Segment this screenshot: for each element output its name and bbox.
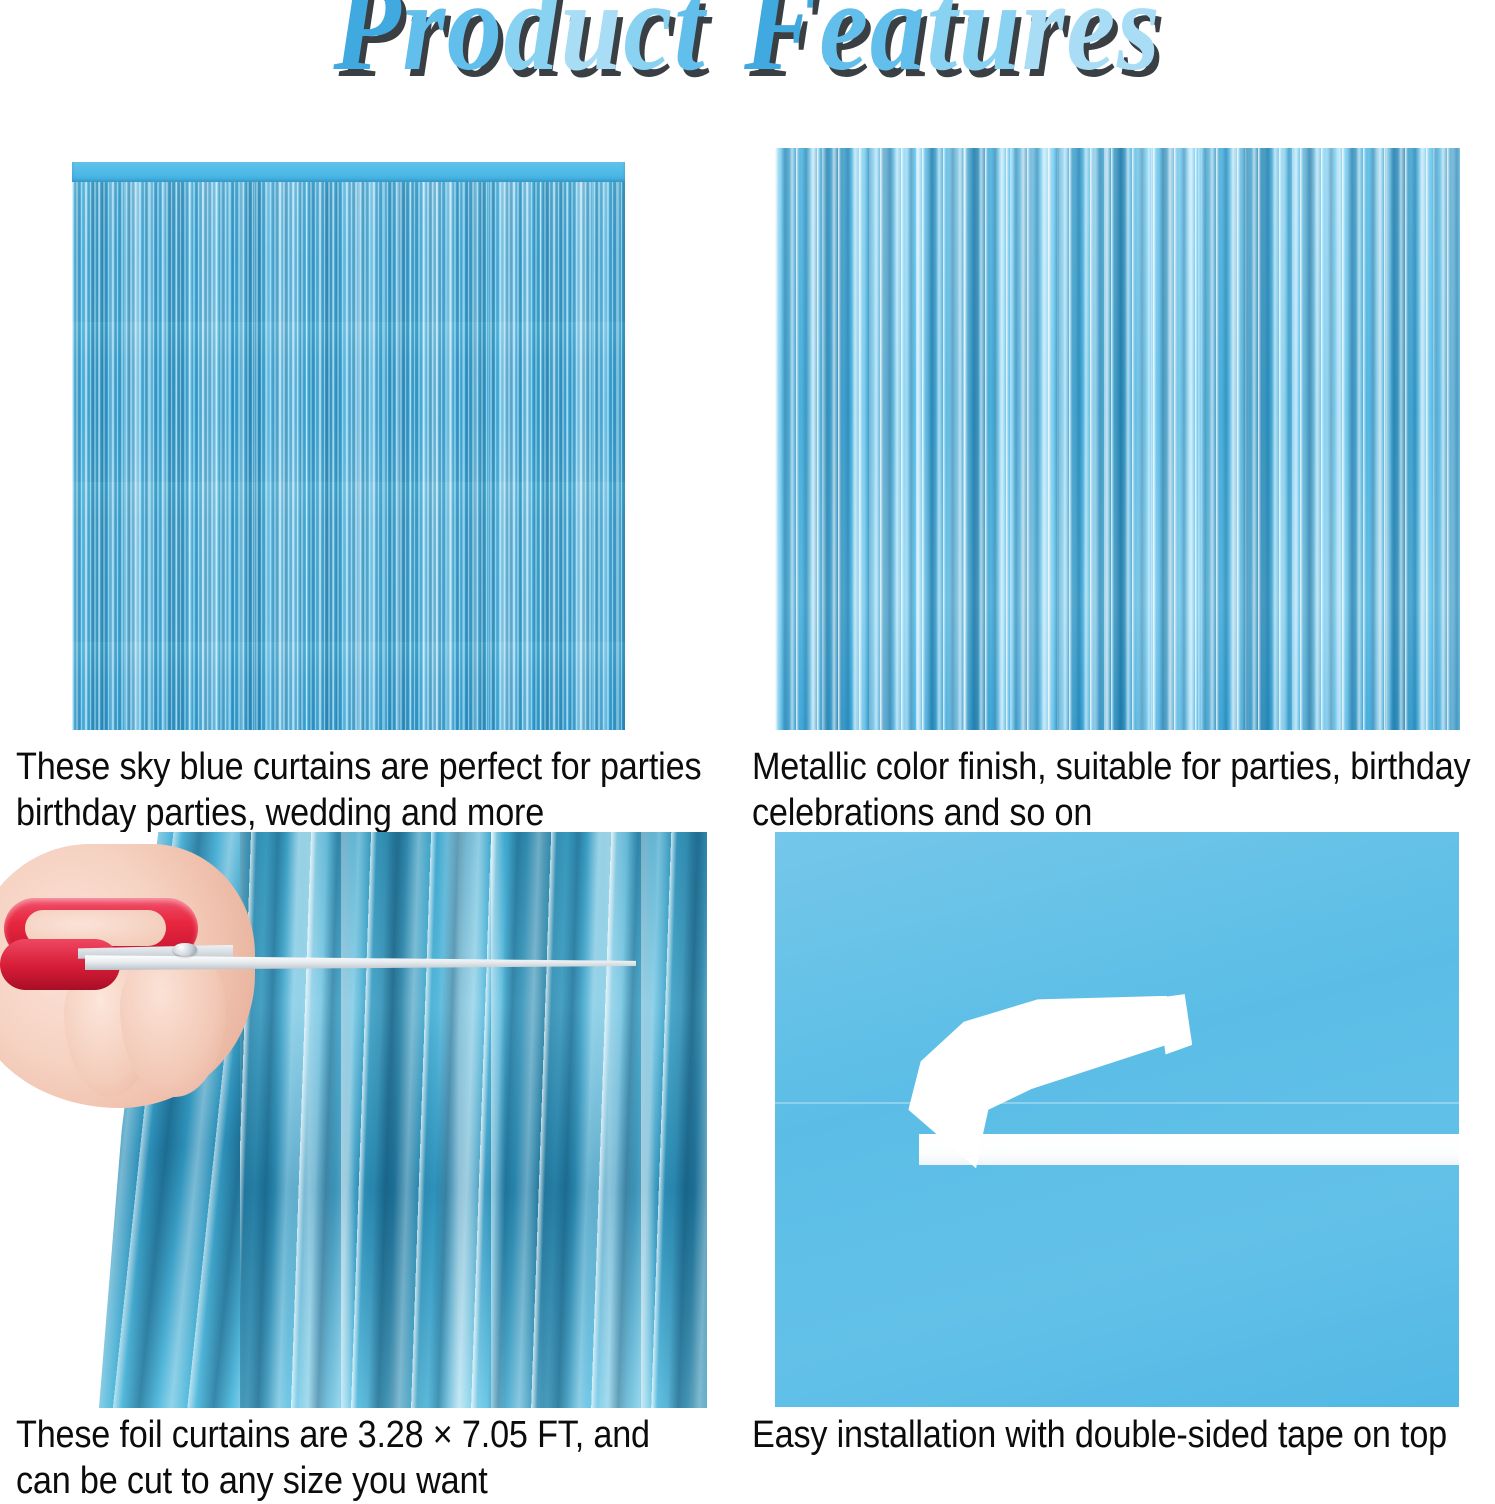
fringe-curtain-medium-texture	[775, 148, 1460, 730]
title-letter: e	[1066, 0, 1117, 86]
title-letter: F	[744, 0, 819, 86]
blue-curtain-surface	[775, 832, 1459, 1407]
feature-cell-4	[775, 832, 1459, 1407]
fringe-curtain-fine-texture	[72, 162, 625, 730]
title-letter: a	[870, 0, 927, 86]
title-letter: s	[1117, 0, 1162, 86]
feature-image-2	[775, 148, 1460, 730]
title-letter: t	[927, 0, 959, 86]
title-letter: r	[1022, 0, 1067, 86]
feature-image-1	[72, 162, 625, 730]
curtain-seam-line	[775, 1102, 1459, 1104]
page-title-banner: ProductFeatures	[0, 0, 1495, 86]
title-letter: r	[402, 0, 447, 86]
double-sided-tape-strip	[919, 1134, 1459, 1165]
title-letter: u	[959, 0, 1022, 86]
feature-caption-1: These sky blue curtains are perfect for …	[16, 744, 727, 836]
feature-caption-4: Easy installation with double-sided tape…	[752, 1412, 1495, 1458]
feature-cell-2	[775, 148, 1460, 730]
feature-image-4	[775, 832, 1459, 1407]
title-letter: e	[819, 0, 870, 86]
title-letter: u	[560, 0, 623, 86]
feature-cell-3	[0, 832, 707, 1408]
page-title: ProductFeatures	[333, 0, 1161, 86]
foil-curtain-strips	[191, 832, 707, 1408]
title-letter: c	[623, 0, 674, 86]
curtain-header-strip	[72, 162, 625, 182]
feature-caption-2: Metallic color finish, suitable for part…	[752, 744, 1495, 836]
feature-cell-1	[72, 162, 625, 730]
title-letter: o	[447, 0, 504, 86]
title-letter: t	[674, 0, 706, 86]
title-letter: d	[504, 0, 561, 86]
feature-image-3	[0, 832, 707, 1408]
feature-caption-3: These foil curtains are 3.28 × 7.05 FT, …	[16, 1412, 727, 1504]
title-letter: P	[333, 0, 402, 86]
